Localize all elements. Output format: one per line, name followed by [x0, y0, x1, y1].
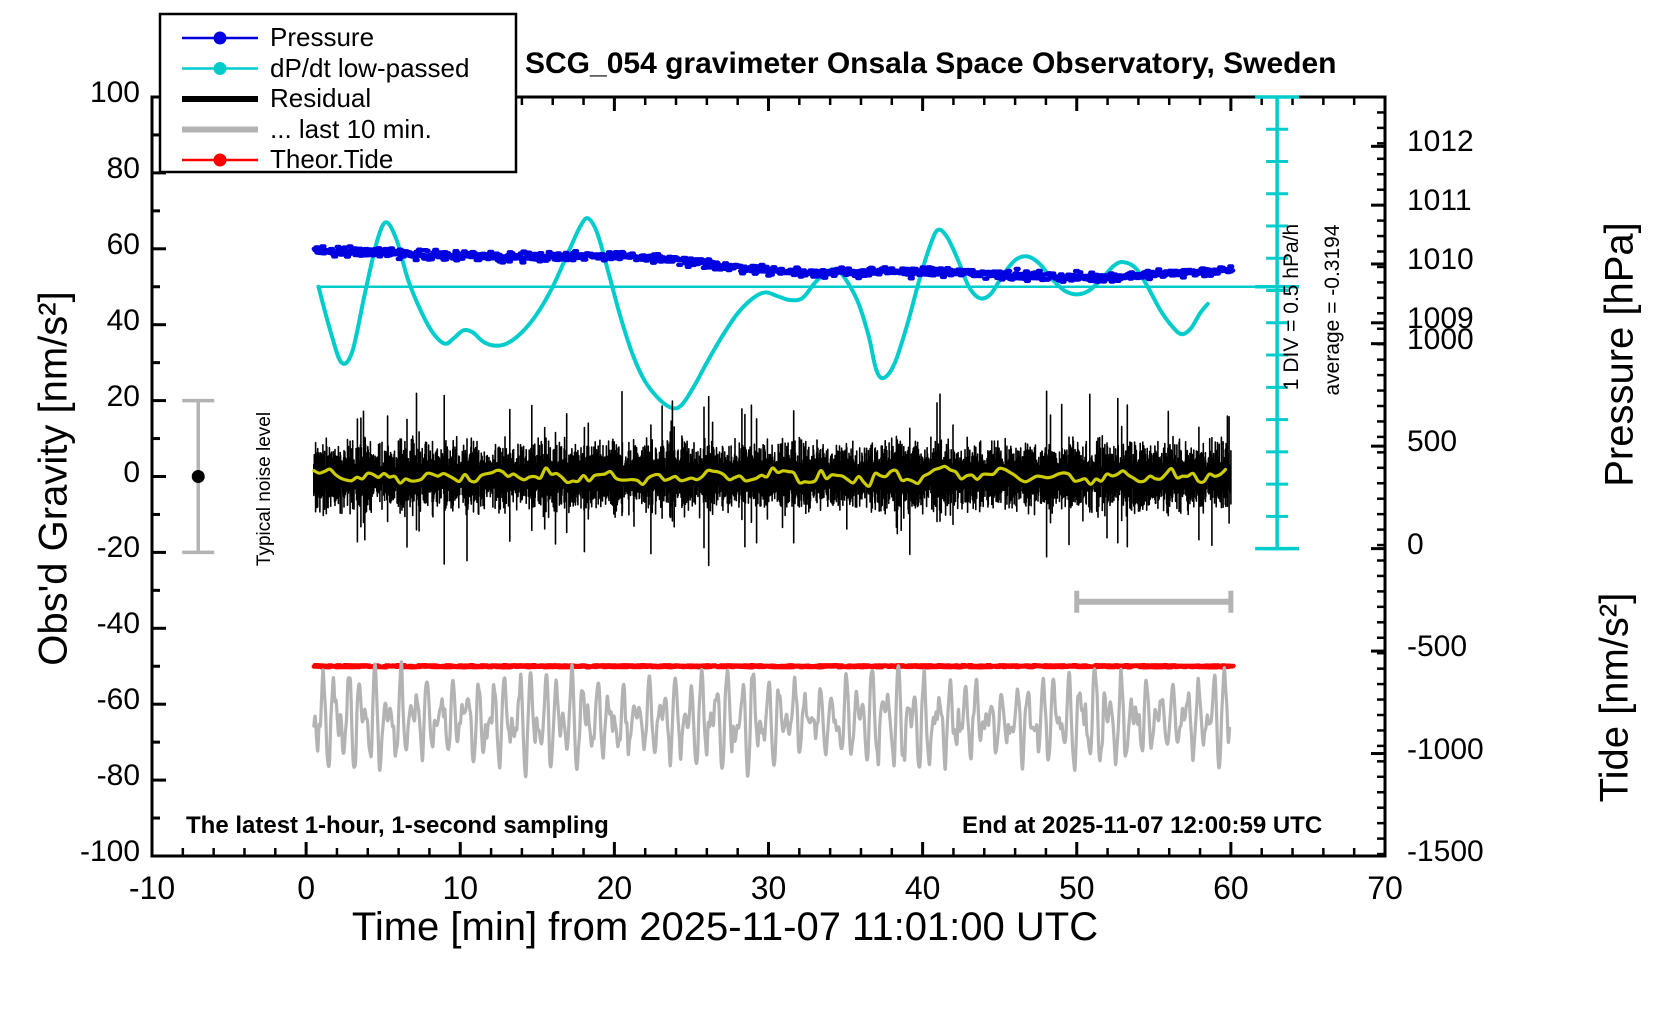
y-tick-label: -60 [10, 683, 140, 717]
x-tick-label: 10 [400, 870, 520, 907]
x-tick-label: 20 [554, 870, 674, 907]
footer-left-note: The latest 1-hour, 1-second sampling [186, 812, 609, 840]
series-last-10-min [314, 662, 1230, 777]
y-tick-label: -40 [10, 607, 140, 641]
legend-item-label: dP/dt low-passed [270, 53, 469, 84]
tide-tick-label: 0 [1407, 528, 1547, 562]
legend-item-label: Pressure [270, 22, 374, 53]
gravimeter-plot-page: { "chart_data": { "type": "line", "title… [0, 0, 1660, 1020]
x-tick-label: 0 [246, 870, 366, 907]
tide-tick-label: -1000 [1407, 733, 1547, 767]
y-tick-label: -20 [10, 531, 140, 565]
legend-item-label: Theor.Tide [270, 144, 393, 175]
dpdt-div-label: 1 DIV = 0.5 hPa/h [1280, 207, 1304, 407]
x-tick-label: 30 [709, 870, 829, 907]
noise-level-label: Typical noise level [254, 389, 276, 589]
footer-right-note: End at 2025-11-07 12:00:59 UTC [962, 812, 1322, 840]
y-tick-label: -100 [10, 835, 140, 869]
noise-bar-dot [192, 470, 205, 483]
y-tick-label: 20 [10, 380, 140, 414]
pressure-tick-label: 1012 [1407, 125, 1547, 159]
x-tick-label: 70 [1325, 870, 1445, 907]
tide-tick-label: 500 [1407, 425, 1547, 459]
legend-item-label: Residual [270, 83, 371, 114]
x-tick-label: 40 [863, 870, 983, 907]
pressure-tick-label: 1011 [1407, 184, 1547, 218]
x-tick-label: 60 [1171, 870, 1291, 907]
y-tick-label: 60 [10, 228, 140, 262]
y-tick-label: 40 [10, 304, 140, 338]
series-dpdt [318, 218, 1207, 408]
x-tick-label: 50 [1017, 870, 1137, 907]
legend-item-label: ... last 10 min. [270, 114, 432, 145]
tide-tick-label: -1500 [1407, 835, 1547, 869]
tide-tick-label: -500 [1407, 630, 1547, 664]
x-axis-title: Time [min] from 2025-11-07 11:01:00 UTC [0, 905, 1450, 950]
legend-marker-4 [214, 154, 227, 167]
y-tick-label: -80 [10, 759, 140, 793]
series-pressure [314, 246, 1233, 281]
chart-title: SCG_054 gravimeter Onsala Space Observat… [525, 47, 1337, 81]
legend-marker-0 [214, 32, 227, 45]
series-theor-tide [314, 665, 1234, 667]
y-tick-label: 80 [10, 152, 140, 186]
pressure-tick-label: 1010 [1407, 243, 1547, 277]
y-tick-label: 100 [10, 76, 140, 110]
dpdt-average-label: average = -0.3194 [1321, 210, 1345, 410]
y-axis-title-tide: Tide [nm/s²] [1593, 478, 1638, 918]
legend-marker-1 [214, 62, 227, 75]
y-tick-label: 0 [10, 456, 140, 490]
x-tick-label: -10 [92, 870, 212, 907]
tide-tick-label: 1000 [1407, 323, 1547, 357]
